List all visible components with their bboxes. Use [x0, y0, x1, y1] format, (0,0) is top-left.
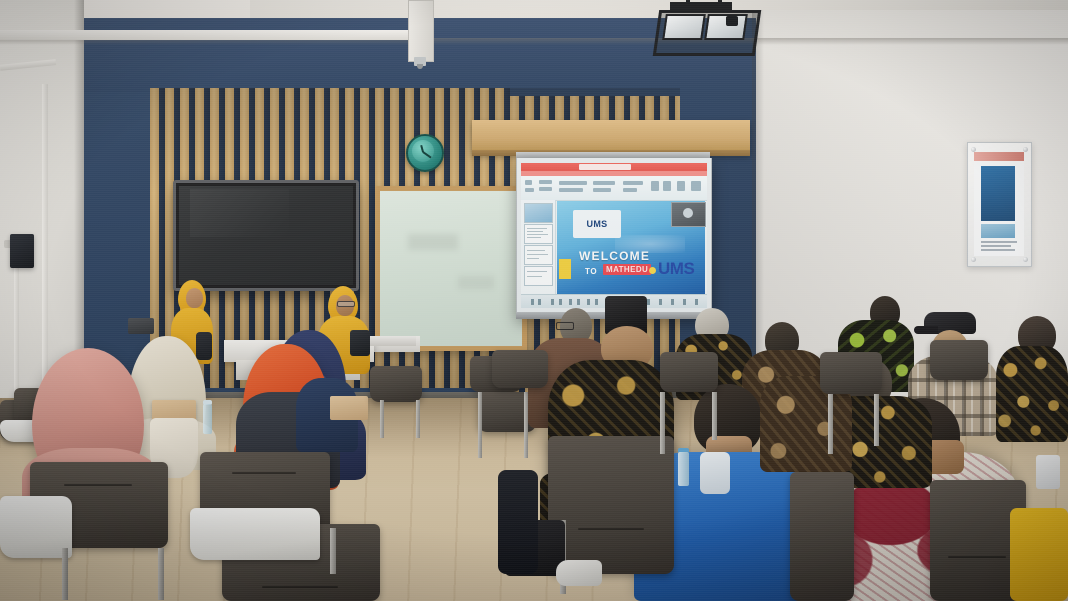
slide-thumbnail[interactable]: [524, 224, 553, 244]
slide-to-text: TO: [585, 267, 597, 276]
chair-back[interactable]: [370, 366, 422, 402]
projector-screen-valance: [472, 120, 750, 154]
slide-dot-icon: [649, 267, 656, 274]
tablet-arm-desk[interactable]: [190, 508, 320, 560]
chair-leg: [874, 394, 879, 446]
framed-poster: [967, 142, 1032, 267]
ribbon-icon[interactable]: [593, 188, 611, 192]
classroom-photo: UMS WELCOME TO MATHEDU UMS: [0, 0, 1068, 601]
chair-leg: [158, 548, 164, 600]
presenter-left-face: [186, 288, 203, 308]
glasses-icon: [337, 301, 355, 307]
video-avatar-icon: [683, 208, 693, 218]
video-call-thumbnail[interactable]: [671, 202, 706, 227]
search-box[interactable]: [579, 164, 631, 170]
ribbon-icon[interactable]: [677, 181, 685, 191]
poster-sheet: [974, 152, 1024, 256]
wall-clock: [406, 134, 444, 172]
chair-leg: [62, 548, 68, 600]
water-bottle: [678, 452, 689, 486]
white-shoe: [556, 560, 602, 586]
chair-leg: [712, 392, 717, 440]
slide-accent-bar: [559, 259, 571, 279]
trousers-leg: [498, 470, 538, 574]
ribbon-icon[interactable]: [559, 188, 583, 192]
ribbon-icon[interactable]: [623, 188, 637, 192]
shirt-collar: [700, 452, 730, 494]
poster-header-band: [974, 152, 1024, 161]
dark-batik-shirt: [996, 346, 1068, 442]
clock-face: [412, 140, 434, 162]
chair-leg: [380, 400, 384, 438]
side-table: [370, 336, 416, 346]
chair-back[interactable]: [930, 340, 988, 380]
laptop: [128, 318, 154, 334]
slide-ums-brand: UMS: [658, 259, 694, 279]
cap-brim: [914, 326, 938, 334]
chair-back[interactable]: [820, 352, 882, 394]
ribbon-icon[interactable]: [525, 180, 532, 185]
fixture-knob: [726, 16, 738, 26]
ums-logo-text: UMS: [587, 219, 608, 229]
ribbon-icon[interactable]: [593, 181, 615, 185]
poster-image-secondary: [981, 224, 1015, 238]
fixture-mount-bar: [670, 2, 732, 10]
chair-leg: [330, 528, 336, 574]
presenter-right-tablet: [350, 330, 370, 356]
ceiling-duct: [408, 0, 434, 62]
chair-leg: [478, 392, 482, 458]
ribbon-toolbar[interactable]: [521, 176, 707, 201]
chair-back[interactable]: [492, 350, 548, 388]
ribbon-icon[interactable]: [691, 181, 701, 191]
ums-logo-box: UMS: [573, 210, 621, 238]
clock-minute-hand: [423, 151, 432, 158]
wall-conduit-secondary: [14, 246, 19, 406]
whiteboard-smudge: [458, 276, 494, 288]
slide-welcome-text: WELCOME: [579, 249, 650, 263]
chair-leg: [660, 392, 665, 454]
cardboard-box: [330, 396, 368, 420]
phone-or-paper: [1036, 455, 1060, 489]
ribbon-icon[interactable]: [525, 188, 534, 192]
poster-image: [981, 166, 1015, 221]
whiteboard: [375, 186, 527, 351]
ribbon-icon[interactable]: [651, 181, 659, 191]
ribbon-icon[interactable]: [559, 181, 587, 185]
water-bottle: [203, 404, 212, 434]
chair-leg: [416, 400, 420, 438]
ribbon-icon[interactable]: [663, 181, 671, 191]
glasses-icon: [556, 322, 574, 330]
projection-screen: UMS WELCOME TO MATHEDU UMS: [516, 158, 712, 318]
lamp-icon: [662, 14, 706, 40]
ceiling-light-fixture: [656, 2, 756, 54]
ribbon-icon[interactable]: [623, 181, 643, 185]
yellow-cushion: [1010, 508, 1068, 601]
slide-mathedu-highlight: MATHEDU: [603, 264, 651, 275]
wall-television: [173, 180, 359, 291]
titlebar[interactable]: [521, 163, 707, 171]
tv-glare: [190, 189, 289, 236]
ceiling-beam: [0, 30, 420, 40]
slide-thumbnail[interactable]: [524, 266, 553, 286]
ribbon-icon[interactable]: [539, 180, 552, 184]
chair-back[interactable]: [548, 436, 674, 574]
slide-thumbnail[interactable]: [524, 245, 553, 265]
wall-speaker: [10, 234, 34, 268]
slide-thumbnail[interactable]: [524, 203, 553, 223]
chair-leg: [828, 394, 833, 454]
chair-back[interactable]: [660, 352, 718, 392]
whiteboard-smudge: [408, 234, 458, 250]
powerpoint-window[interactable]: UMS WELCOME TO MATHEDU UMS: [521, 163, 707, 308]
wall-conduit-vertical: [42, 84, 48, 414]
chair-back[interactable]: [790, 472, 854, 601]
ribbon-icon[interactable]: [539, 187, 552, 191]
presenter-left-arm: [196, 332, 212, 360]
slide-thumbnail-pane[interactable]: [521, 200, 556, 308]
